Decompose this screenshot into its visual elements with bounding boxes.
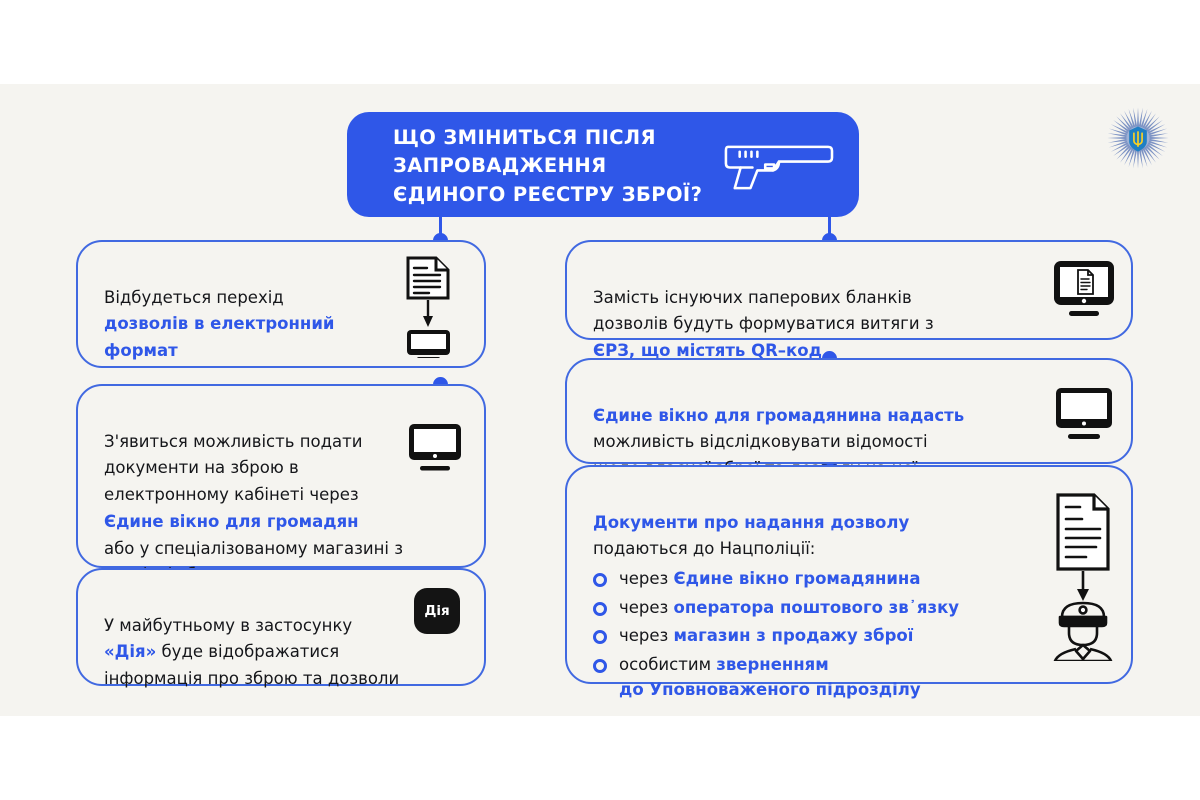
list-item-text: через магазин з продажу зброї [619,623,913,649]
list-item-text: через оператора поштового зв᾽язку [619,595,959,621]
highlight-segment: оператора поштового зв᾽язку [674,598,960,617]
card-single-window[interactable]: Єдине вікно для громадянина надасть можл… [565,358,1133,464]
highlight-segment: дозволів в електронний формат [104,314,334,360]
highlight-segment: магазин з продажу зброї [674,626,914,645]
document-to-officer-icon [1038,493,1120,661]
list-item-text: особистим зверненням до Уповноваженого п… [619,652,921,703]
page-title: ЩО ЗМІНИТЬСЯ ПІСЛЯ ЗАПРОВАДЖЕННЯ ЄДИНОГО… [393,124,702,209]
card-diia-app-text: У майбутньому в застосунку «Дія» буде ві… [104,586,464,693]
card-permit-documents[interactable]: Документи про надання дозволу подаються … [565,465,1133,684]
text-segment: подаються до Нацполіції: [593,539,815,558]
card-diia-app[interactable]: У майбутньому в застосунку «Дія» буде ві… [76,568,486,686]
monitor-icon [1053,386,1115,440]
police-emblem-icon [1104,104,1172,172]
list-item[interactable]: через Єдине вікно громадянина [593,566,1111,592]
card-submit-documents[interactable]: З'явиться можливість подати документи на… [76,384,486,568]
list-item[interactable]: через магазин з продажу зброї [593,623,1111,649]
diia-app-icon[interactable]: Дія [414,588,460,634]
text-segment: через [619,626,674,645]
text-segment: через [619,569,674,588]
text-segment: особистим [619,655,716,674]
text-segment: через [619,598,674,617]
highlight-segment: Єдине вікно для громадян [104,512,359,531]
text-segment: Відбудеться перехід [104,288,284,307]
bullet-circle-icon [593,630,607,644]
diia-app-label: Дія [414,588,460,634]
highlight-segment: Єдине вікно громадянина [674,569,921,588]
text-segment: З'явиться можливість подати документи на… [104,432,362,504]
list-item[interactable]: через оператора поштового зв᾽язку [593,595,1111,621]
highlight-segment: «Дія» [104,642,156,661]
bullet-circle-icon [593,573,607,587]
monitor-icon [406,422,464,472]
highlight-segment: Документи про надання дозволу [593,513,909,532]
bullet-circle-icon [593,602,607,616]
pistol-icon [717,138,837,193]
document-to-monitor-icon [394,254,456,358]
list-item-text: через Єдине вікно громадянина [619,566,920,592]
highlight-segment: Єдине вікно для громадянина надасть [593,406,964,425]
card-e-permits[interactable]: Відбудеться перехід дозволів в електронн… [76,240,486,368]
card-permit-documents-text: Документи про надання дозволу подаються … [593,483,1111,563]
text-segment: Замість існуючих паперових бланків дозво… [593,288,934,334]
list-item[interactable]: особистим зверненням до Уповноваженого п… [593,652,1111,703]
card-qr-extracts-text: Замість існуючих паперових бланків дозво… [593,258,1111,365]
bullet-circle-icon [593,659,607,673]
card-qr-extracts[interactable]: Замість існуючих паперових бланків дозво… [565,240,1133,340]
monitor-document-icon [1051,259,1117,321]
text-segment: У майбутньому в застосунку [104,616,352,635]
title-banner: ЩО ЗМІНИТЬСЯ ПІСЛЯ ЗАПРОВАДЖЕННЯ ЄДИНОГО… [347,112,859,217]
